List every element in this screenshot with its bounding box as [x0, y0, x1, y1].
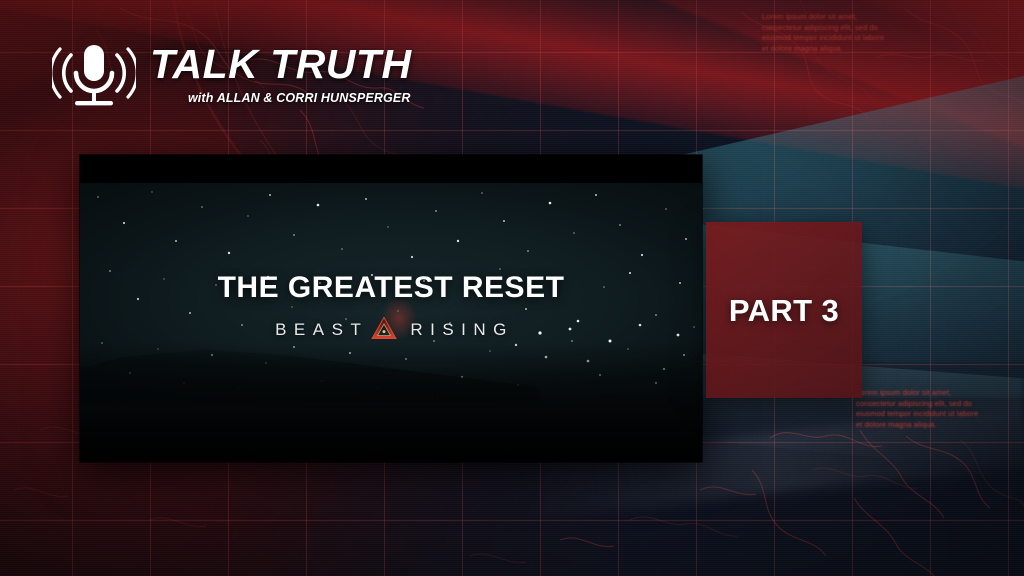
broadcast-graphic-stage: Lorem ipsum dolor sit amet, consectetur …	[0, 0, 1024, 576]
microphone-icon	[52, 36, 136, 114]
logo-title: TALK TRUTH	[150, 44, 412, 85]
video-foreground-land	[80, 342, 702, 462]
triangle-pyramid-icon	[371, 316, 397, 340]
video-subtitle-right: RISING	[400, 321, 514, 338]
video-title-block: THE GREATEST RESET BEAST RISING	[80, 273, 702, 341]
video-title: THE GREATEST RESET	[218, 273, 565, 303]
video-subtitle-row: BEAST RISING	[268, 317, 514, 341]
video-subtitle-left: BEAST	[268, 321, 368, 338]
video-letterbox-top	[80, 155, 702, 183]
logo-subtitle: with ALLAN & CORRI HUNSPERGER	[188, 92, 411, 105]
part-number-panel: PART 3	[706, 222, 862, 398]
part-number-label: PART 3	[729, 295, 839, 326]
show-logo: TALK TRUTH with ALLAN & CORRI HUNSPERGER	[52, 36, 412, 114]
video-preview-panel[interactable]: THE GREATEST RESET BEAST RISING	[80, 155, 702, 462]
video-letterbox-bottom	[80, 458, 702, 462]
